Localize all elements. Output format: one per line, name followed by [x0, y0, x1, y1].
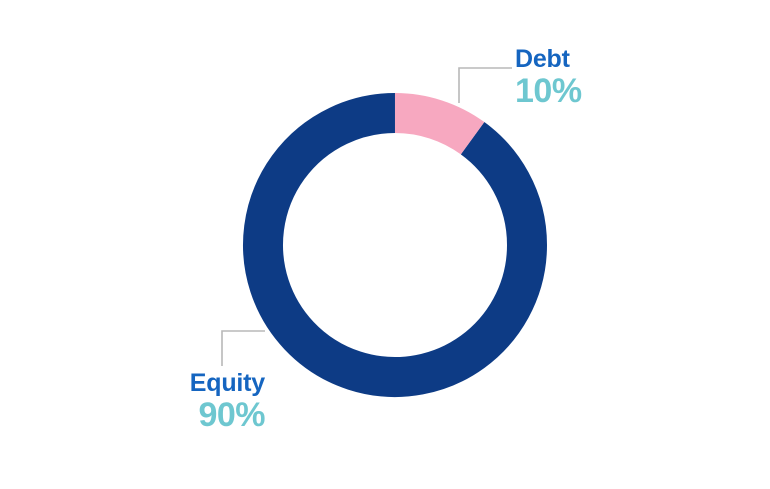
leader-line-equity: [222, 331, 265, 366]
donut-slice-equity[interactable]: [263, 113, 527, 377]
leader-line-debt: [459, 68, 512, 103]
debt-label-value: 10%: [515, 74, 582, 108]
equity-callout-label: Equity 90%: [175, 371, 265, 432]
debt-label-name: Debt: [515, 47, 582, 72]
equity-label-name: Equity: [175, 371, 265, 396]
equity-label-value: 90%: [175, 398, 265, 432]
debt-callout-label: Debt 10%: [515, 47, 582, 108]
donut-slice-debt[interactable]: [395, 113, 473, 138]
donut-chart-svg: [0, 0, 770, 489]
donut-chart-figure: Debt 10% Equity 90%: [0, 0, 770, 489]
